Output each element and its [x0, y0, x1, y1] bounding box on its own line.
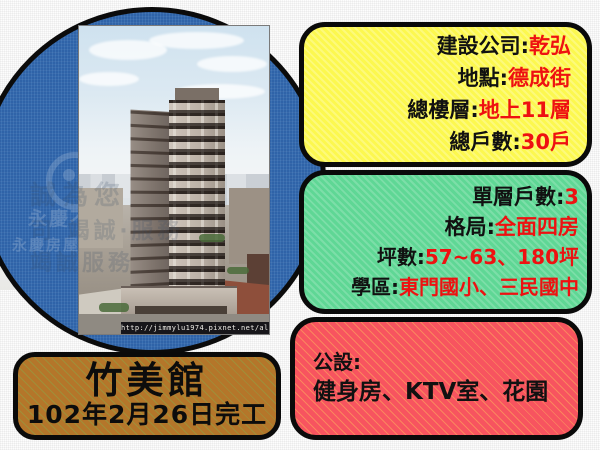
tower-face-right: [169, 100, 225, 298]
label-developer: 建設公司:: [437, 34, 529, 58]
card-facilities: 公設: 健身房、KTV室、花園: [290, 317, 583, 440]
label-location: 地點:: [458, 66, 508, 90]
project-name: 竹美館: [86, 362, 209, 399]
photo-url-watermark: http://jimmylu1974.pixnet.net/album: [121, 322, 270, 334]
row-location: 地點:德成街: [458, 66, 571, 91]
planter: [199, 234, 225, 242]
value-total-units: 30戶: [521, 130, 571, 154]
neighbour-building: [229, 188, 270, 264]
row-units-per-floor: 單層戶數:3: [472, 185, 579, 210]
label-units-per-floor: 單層戶數:: [472, 185, 564, 209]
facilities-list: 健身房、KTV室、花園: [313, 379, 548, 406]
value-school-district: 東門國小、三民國中: [399, 275, 579, 299]
row-developer: 建設公司:乾弘: [437, 34, 571, 59]
row-total-floors: 總樓層:地上11層: [407, 98, 571, 123]
label-total-units: 總戶數:: [449, 130, 520, 154]
main-tower: [131, 100, 227, 300]
card-unit-info: 單層戶數:3 格局:全面四房 坪數:57~63、180坪 學區:東門國小、三民國…: [299, 170, 592, 314]
floor-bands: [131, 109, 171, 300]
planter: [99, 303, 129, 312]
label-layout: 格局:: [445, 215, 495, 239]
row-layout: 格局:全面四房: [445, 215, 579, 240]
value-developer: 乾弘: [529, 34, 571, 58]
value-location: 德成街: [508, 66, 571, 90]
cloud-shape: [149, 32, 244, 49]
tower-face-left: [131, 109, 171, 300]
planter: [227, 267, 249, 274]
value-layout: 全面四房: [495, 215, 579, 239]
window-grid: [169, 100, 225, 298]
completion-date: 102年2月26日完工: [27, 401, 267, 430]
label-area: 坪數:: [377, 245, 425, 269]
card-basic-info: 建設公司:乾弘 地點:德成街 總樓層:地上11層 總戶數:30戶: [299, 22, 592, 167]
label-total-floors: 總樓層:: [407, 98, 478, 122]
neighbour-building: [79, 188, 123, 248]
cloud-shape: [197, 56, 267, 72]
row-area: 坪數:57~63、180坪: [377, 246, 579, 270]
label-school-district: 學區:: [351, 275, 399, 299]
building-exterior-photo: http://jimmylu1974.pixnet.net/album: [78, 25, 270, 335]
facilities-heading: 公設:: [313, 351, 361, 375]
value-units-per-floor: 3: [564, 185, 579, 209]
cloud-shape: [79, 72, 139, 86]
card-project-title: 竹美館 102年2月26日完工: [13, 352, 281, 440]
property-info-poster: 永慶不動產 永慶房屋: [0, 0, 600, 450]
value-area: 57~63、180坪: [425, 245, 579, 269]
row-school-district: 學區:東門國小、三民國中: [351, 276, 579, 300]
value-total-floors: 地上11層: [479, 98, 571, 122]
row-total-units: 總戶數:30戶: [449, 130, 571, 155]
